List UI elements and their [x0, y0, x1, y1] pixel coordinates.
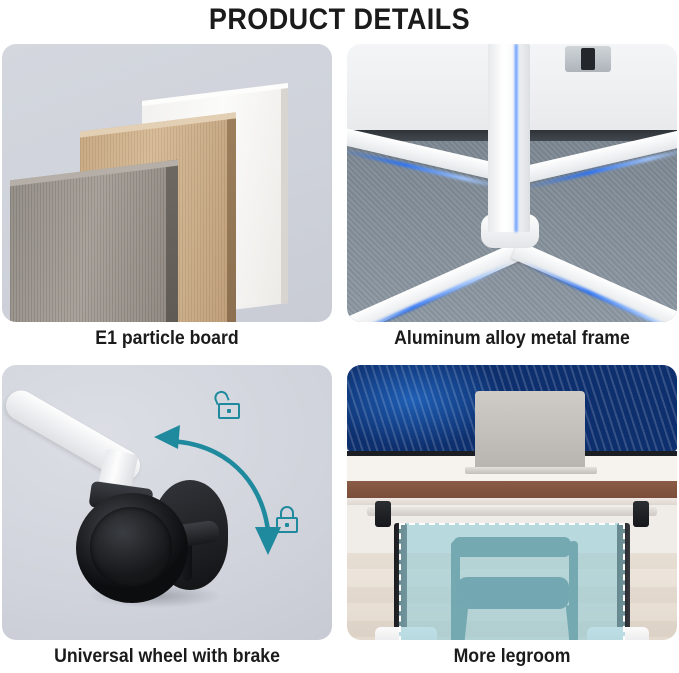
- laptop: [475, 391, 585, 469]
- board-edge: [281, 83, 288, 304]
- laptop-base: [465, 467, 597, 474]
- board-sample-gray: [10, 160, 178, 322]
- board-edge: [227, 112, 236, 322]
- legroom-highlight-area: [399, 523, 625, 640]
- curved-double-arrow-icon: [150, 403, 290, 563]
- panel-caption-more-legroom: More legroom: [359, 646, 666, 668]
- product-details-infographic: PRODUCT DETAILS E1 particle board: [0, 0, 679, 673]
- desk-clamp-right: [633, 501, 649, 527]
- blue-glow-column: [514, 44, 519, 232]
- frame-column: [488, 44, 530, 232]
- panel-caption-universal-wheel: Universal wheel with brake: [14, 646, 321, 668]
- page-title: PRODUCT DETAILS: [34, 0, 645, 40]
- monitor-foot: [565, 46, 611, 72]
- panel-caption-e1-particle-board: E1 particle board: [14, 328, 321, 350]
- panel-image-e1-particle-board: [2, 44, 332, 322]
- panel-e1-particle-board: E1 particle board: [2, 44, 332, 352]
- panel-caption-aluminum-frame: Aluminum alloy metal frame: [359, 328, 666, 350]
- desk-edge: [347, 498, 677, 505]
- panel-aluminum-alloy-metal-frame: Aluminum alloy metal frame: [347, 44, 677, 352]
- desk-crossbar: [367, 507, 657, 516]
- panel-more-legroom: More legroom: [347, 365, 677, 670]
- desk-clamp-left: [375, 501, 391, 527]
- board-face: [10, 160, 178, 322]
- desk-surface: [347, 481, 677, 498]
- panel-image-more-legroom: [347, 365, 677, 640]
- panel-image-aluminum-frame: [347, 44, 677, 322]
- panel-universal-wheel-with-brake: Universal wheel with brake: [2, 365, 332, 670]
- panel-image-caster-wheel: [2, 365, 332, 640]
- board-edge: [166, 160, 178, 322]
